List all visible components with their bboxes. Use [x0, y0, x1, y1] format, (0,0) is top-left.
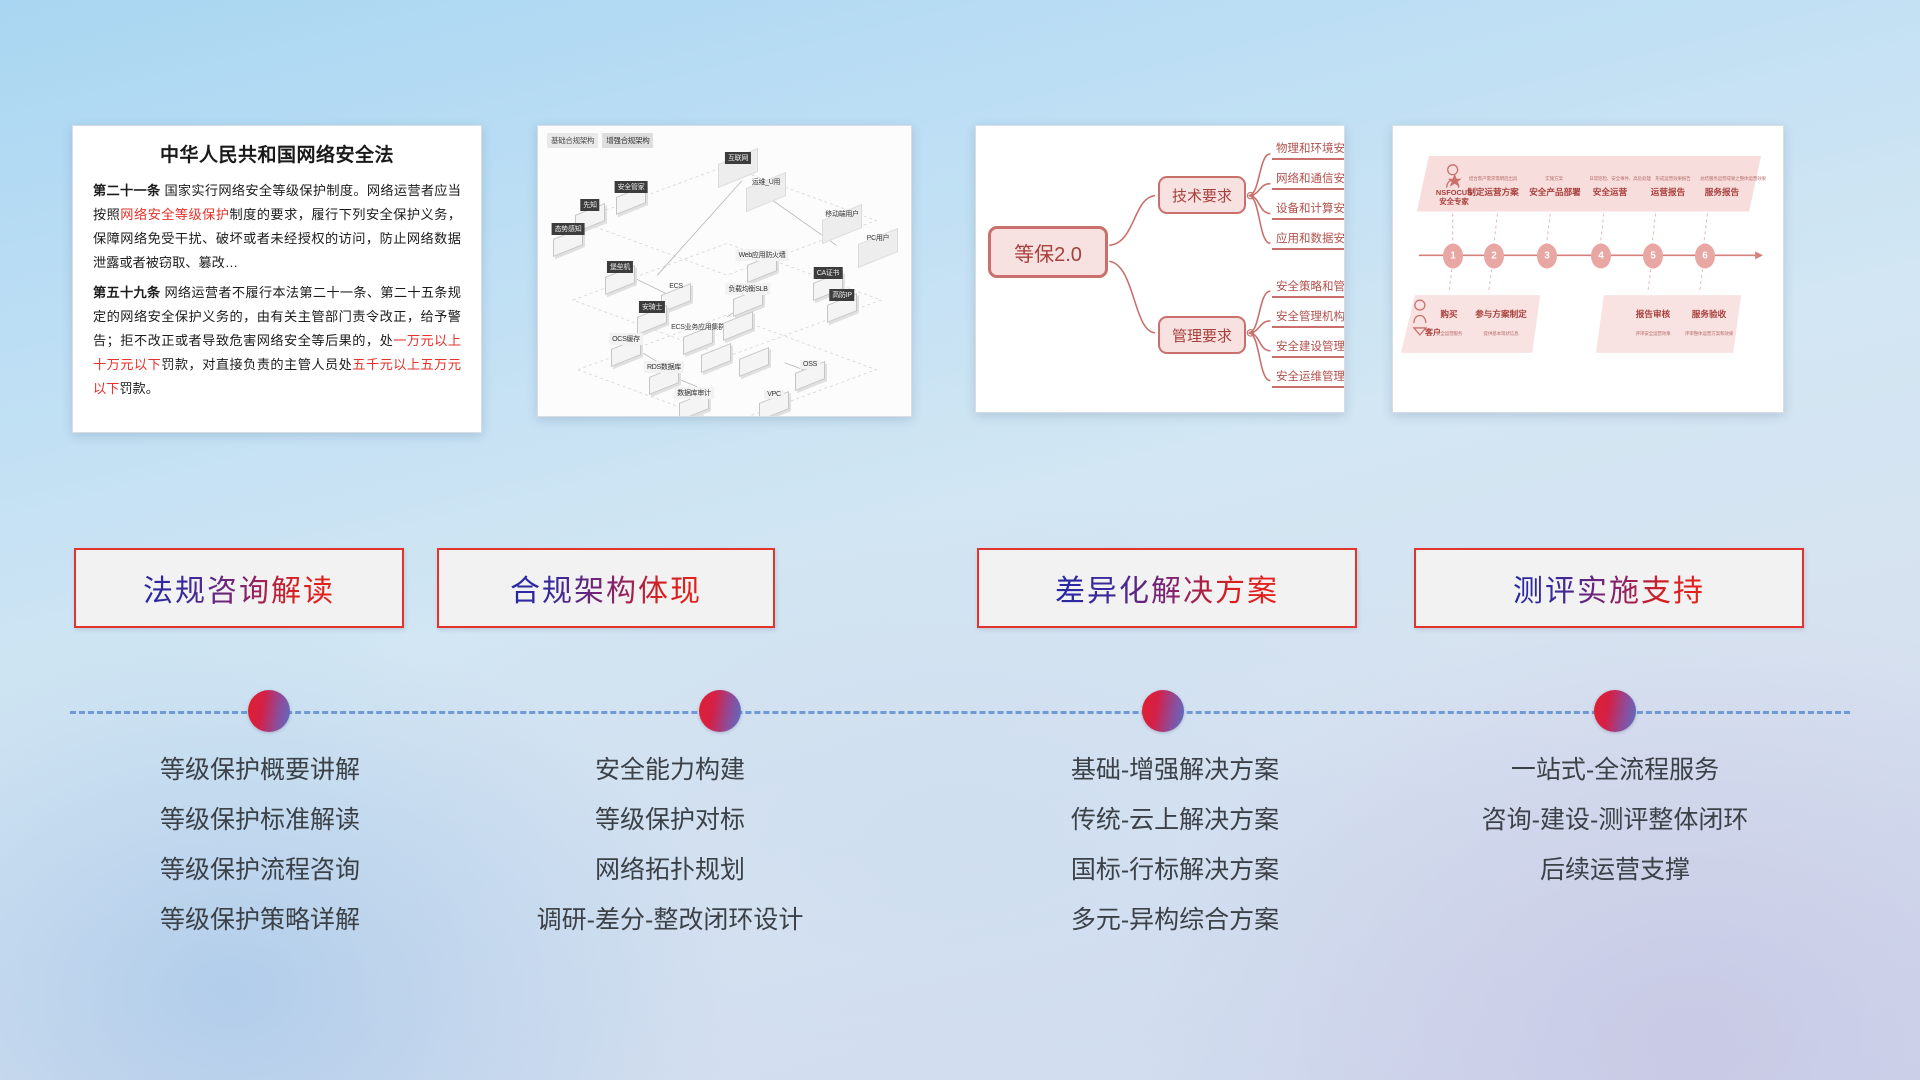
headline-label: 测评实施支持 [1513, 566, 1705, 610]
bottom-step-1-main: 购买 [1427, 304, 1471, 322]
arch-node-anqishi: 安骑士 [637, 311, 667, 329]
law-document: 中华人民共和国网络安全法 第二十一条 国家实行网络安全等级保护制度。网络运营者应… [73, 126, 481, 411]
arch-node-database-audit: 数据库审计 [679, 397, 709, 415]
step-number-3: 3 [1537, 244, 1557, 269]
detail-line: 一站式-全流程服务 [1420, 745, 1810, 795]
arch-node-label: 态势感知 [552, 223, 585, 235]
card-cybersecurity-law[interactable]: 中华人民共和国网络安全法 第二十一条 国家实行网络安全等级保护制度。网络运营者应… [72, 125, 482, 433]
detail-line: 基础-增强解决方案 [940, 745, 1410, 795]
bottom-step-4-sub: 评审整体运营方案和效果 [1673, 322, 1745, 340]
law-run-highlight: 网络安全等级保护 [120, 207, 229, 222]
card-compliance-architecture[interactable]: 基础合规架构 增强合规架构 [537, 125, 912, 417]
arch-node-label: 移动端用户 [822, 208, 862, 220]
timeline-dot-3[interactable] [1142, 690, 1184, 732]
bottom-step-3-main: 报告审核 [1625, 304, 1681, 322]
arch-node-ecs-cluster: ECS业务应用集群 [683, 331, 713, 349]
timeline-dot-2[interactable] [699, 690, 741, 732]
mindmap-branch-technical: 技术要求 [1158, 176, 1246, 214]
mindmap-leaf: 设备和计算安全 [1272, 200, 1345, 220]
arch-node-label: OCS缓存 [609, 333, 643, 345]
detail-line: 安全能力构建 [475, 745, 865, 795]
detail-line: 等级保护对标 [475, 795, 865, 845]
mindmap-leaf: 应用和数据安全 [1272, 230, 1345, 250]
mindmap-leaf: 物理和环境安全 [1272, 140, 1345, 160]
arch-node-app-server-3 [739, 353, 769, 371]
mindmap-leaf: 安全策略和管理制度 [1272, 278, 1345, 298]
headline-label: 法规咨询解读 [143, 566, 335, 610]
timeline-dot-1[interactable] [248, 690, 290, 732]
architecture-tabs[interactable]: 基础合规架构 增强合规架构 [547, 133, 653, 148]
mindmap-leaf: 网络和通信安全 [1272, 170, 1345, 190]
bottom-step-4-main: 服务验收 [1681, 304, 1737, 322]
step-number-5: 5 [1643, 244, 1663, 269]
arch-node-label: 运维_U用 [749, 176, 783, 188]
timeline-dot-4[interactable] [1594, 690, 1636, 732]
arch-node-bastion-host: 堡垒机 [605, 271, 635, 289]
headline-label: 差异化解决方案 [1055, 566, 1279, 610]
arch-node-ops-user: 运维_U用 [746, 180, 786, 204]
arch-node-label: 安全管家 [615, 181, 648, 193]
arch-node-label: PC用户 [864, 232, 893, 244]
arch-node-waf: Web应用防火墙 [747, 259, 777, 277]
arch-node-anti-ddos-ip: 高防IP [827, 299, 857, 317]
bottom-step-2-sub: 提供基本现状信息 [1467, 322, 1535, 340]
step-number-4: 4 [1591, 244, 1611, 269]
arch-node-label: 数据库审计 [674, 387, 714, 399]
top-step-3-main: 安全运营 [1581, 182, 1639, 200]
arch-node-label: 安骑士 [639, 301, 665, 313]
headline-row: 法规咨询解读 合规架构体现 差异化解决方案 测评实施支持 [0, 548, 1920, 630]
step-number-2: 2 [1484, 244, 1504, 269]
preview-card-row: 中华人民共和国网络安全法 第二十一条 国家实行网络安全等级保护制度。网络运营者应… [0, 125, 1920, 435]
detail-line: 等级保护标准解读 [70, 795, 450, 845]
detail-line: 后续运营支撑 [1420, 845, 1810, 895]
arch-node-app-server [723, 317, 753, 335]
headline-box-assessment-support[interactable]: 测评实施支持 [1414, 548, 1804, 628]
arch-node-situational-awareness: 态势感知 [553, 233, 583, 251]
tab-basic-architecture[interactable]: 基础合规架构 [547, 133, 598, 148]
detail-line: 等级保护流程咨询 [70, 845, 450, 895]
arch-node-label: 堡垒机 [607, 261, 633, 273]
law-article-number: 第二十一条 [93, 183, 160, 198]
detail-line: 国标-行标解决方案 [940, 845, 1410, 895]
law-paragraph-21: 第二十一条 国家实行网络安全等级保护制度。网络运营者应当按照网络安全等级保护制度… [93, 179, 461, 275]
detail-line: 咨询-建设-测评整体闭环 [1420, 795, 1810, 845]
arch-node-mobile-user: 移动端用户 [822, 212, 862, 236]
timeline-dashed-line [70, 711, 1850, 714]
law-title: 中华人民共和国网络安全法 [93, 140, 461, 167]
card-service-timeline[interactable]: NSFOCUS 安全专家 结合客户需求需明后出具 制定运营方案 实施方案 安全产… [1392, 125, 1784, 413]
detail-line: 等级保护策略详解 [70, 895, 450, 945]
detail-line: 传统-云上解决方案 [940, 795, 1410, 845]
arch-node-vpc: VPC [759, 397, 789, 415]
arch-node-label: OSS [800, 360, 820, 369]
headline-label: 合规架构体现 [510, 566, 702, 610]
detail-line: 多元-异构综合方案 [940, 895, 1410, 945]
tab-enhanced-architecture[interactable]: 增强合规架构 [602, 133, 653, 148]
arch-node-label: 高防IP [829, 289, 854, 301]
mindmap-leaf: 安全运维管理 [1272, 368, 1345, 388]
arch-node-security-steward: 安全管家 [616, 191, 646, 209]
arch-node-oss: OSS [795, 367, 825, 385]
mindmap-leaf: 安全建设管理 [1272, 338, 1345, 358]
timeline-connector [0, 690, 1920, 734]
detail-column-assessment: 一站式-全流程服务 咨询-建设-测评整体闭环 后续运营支撑 [1420, 745, 1810, 895]
arch-node-label: 负载均衡SLB [725, 283, 770, 295]
mindmap-root: 等保2.0 [988, 226, 1108, 278]
card-dengbao-mindmap[interactable]: 等保2.0 技术要求 管理要求 物理和环境安全 网络和通信安全 设备和计算安全 … [975, 125, 1345, 413]
arch-node-label: VPC [764, 390, 784, 399]
arch-node-slb: 负载均衡SLB [733, 293, 763, 311]
detail-line: 调研-差分-整改闭环设计 [475, 895, 865, 945]
mindmap-branch-management: 管理要求 [1158, 316, 1246, 354]
law-run: 罚款。 [119, 381, 159, 396]
arch-node-label: CA证书 [814, 267, 843, 279]
bottom-step-2-main: 参与方案制定 [1469, 304, 1533, 322]
detail-line: 网络拓扑规划 [475, 845, 865, 895]
headline-box-regulation-consulting[interactable]: 法规咨询解读 [74, 548, 404, 628]
detail-column-solutions: 基础-增强解决方案 传统-云上解决方案 国标-行标解决方案 多元-异构综合方案 [940, 745, 1410, 945]
arch-node-label: 先知 [580, 199, 599, 211]
headline-box-compliance-architecture[interactable]: 合规架构体现 [437, 548, 775, 628]
service-flow-diagram: NSFOCUS 安全专家 结合客户需求需明后出具 制定运营方案 实施方案 安全产… [1393, 126, 1783, 412]
arch-node-app-server-2 [701, 349, 731, 367]
step-number-1: 1 [1443, 244, 1463, 269]
arch-node-label: Web应用防火墙 [736, 249, 789, 261]
detail-line: 等级保护概要讲解 [70, 745, 450, 795]
mindmap-leaf: 安全管理机构和人员 [1272, 308, 1345, 328]
law-article-number: 第五十九条 [93, 285, 160, 300]
architecture-diagram: 基础合规架构 增强合规架构 [538, 126, 911, 416]
headline-box-differentiated-solutions[interactable]: 差异化解决方案 [977, 548, 1357, 628]
detail-column-architecture: 安全能力构建 等级保护对标 网络拓扑规划 调研-差分-整改闭环设计 [475, 745, 865, 945]
arch-node-label: ECS业务应用集群 [668, 321, 728, 333]
arch-node-ocs-cache: OCS缓存 [611, 343, 641, 361]
arch-node-label: ECS [666, 282, 686, 291]
detail-column-regulation: 等级保护概要讲解 等级保护标准解读 等级保护流程咨询 等级保护策略详解 [70, 745, 450, 945]
top-step-5-main: 服务报告 [1693, 182, 1751, 200]
law-run: 罚款，对直接负责的主管人员处 [161, 357, 352, 372]
step-number-6: 6 [1695, 244, 1715, 269]
detail-column-row: 等级保护概要讲解 等级保护标准解读 等级保护流程咨询 等级保护策略详解 安全能力… [0, 745, 1920, 985]
arch-node-pc-user: PC用户 [858, 236, 898, 260]
law-paragraph-59: 第五十九条 网络运营者不履行本法第二十一条、第二十五条规定的网络安全保护义务的，… [93, 281, 461, 401]
arch-node-label: 互联网 [725, 152, 751, 164]
arch-node-label: RDS数据库 [644, 361, 684, 373]
mindmap: 等保2.0 技术要求 管理要求 物理和环境安全 网络和通信安全 设备和计算安全 … [976, 126, 1344, 412]
